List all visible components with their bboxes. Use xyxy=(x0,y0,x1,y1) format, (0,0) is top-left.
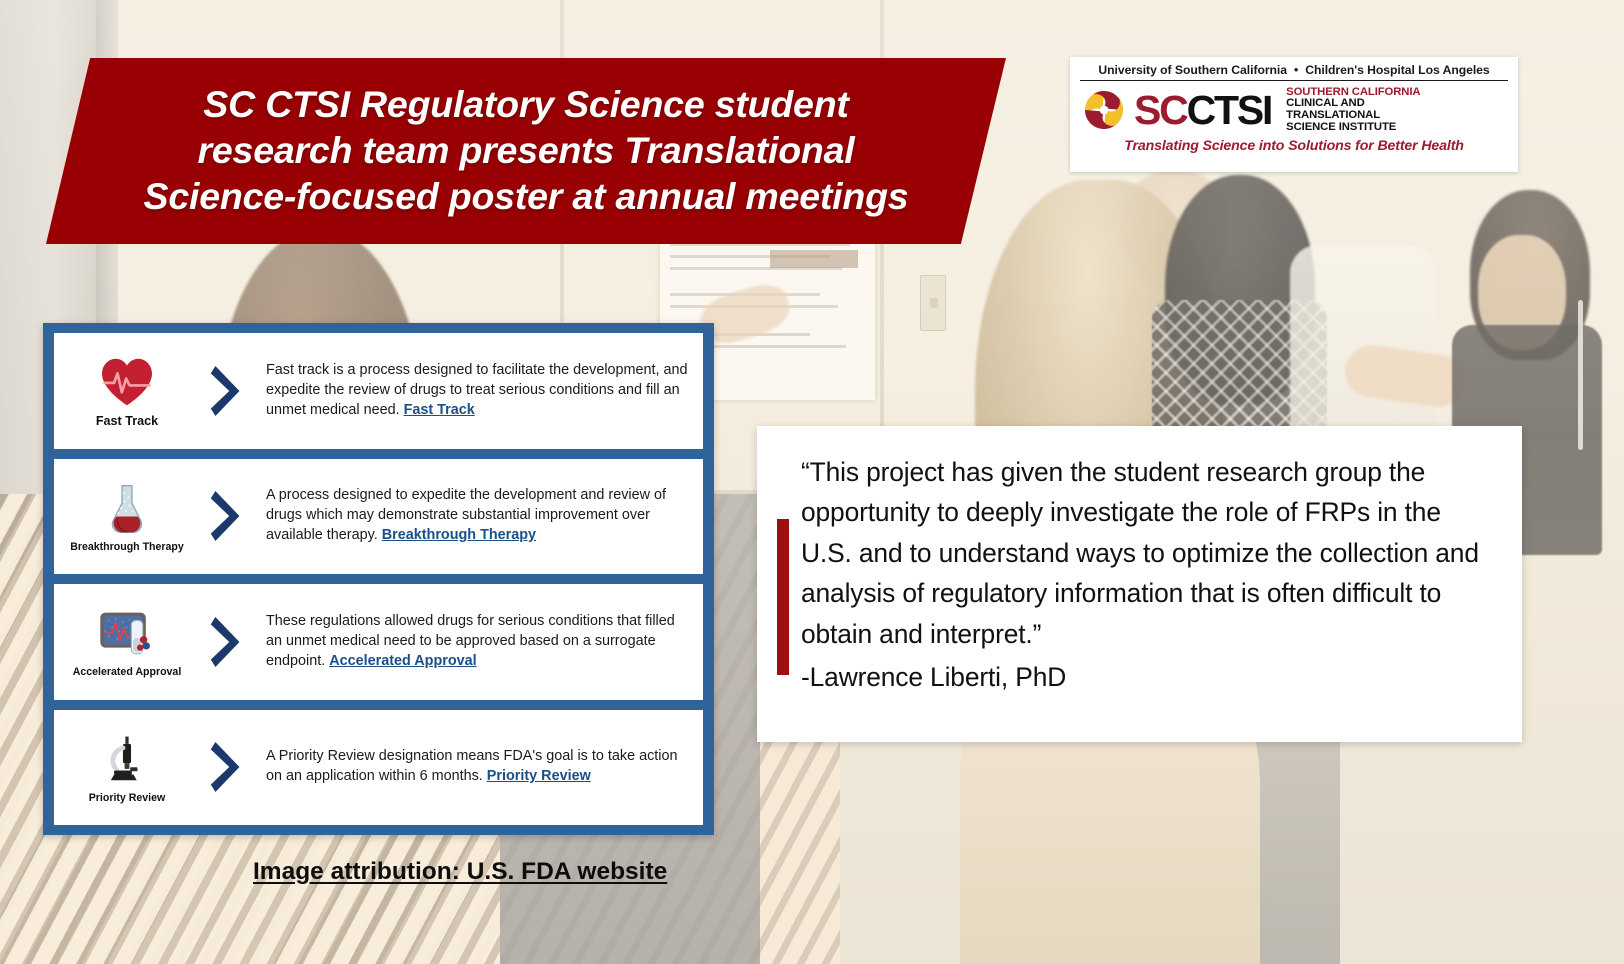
fda-card-caption: Fast Track xyxy=(96,415,158,429)
quote-text: “This project has given the student rese… xyxy=(801,452,1492,654)
fda-card-caption: Accelerated Approval xyxy=(73,667,182,678)
fda-card-body: A Priority Review designation means FDA'… xyxy=(262,747,691,787)
fda-card-link[interactable]: Priority Review xyxy=(487,768,591,784)
chevron-right-icon xyxy=(196,363,256,419)
logo-tagline: Translating Science into Solutions for B… xyxy=(1080,135,1508,154)
page-title: SC CTSI Regulatory Science student resea… xyxy=(76,82,976,219)
logo-partner-usc: University of Southern California xyxy=(1098,63,1287,77)
sc-ctsi-logo: University of Southern California•Childr… xyxy=(1070,57,1518,172)
fda-card-link[interactable]: Breakthrough Therapy xyxy=(382,527,536,543)
title-line-2: research team presents Translational xyxy=(90,128,962,174)
logo-partner-separator: • xyxy=(1287,63,1305,77)
wall-outlet xyxy=(920,275,946,331)
pinwheel-icon xyxy=(1080,86,1128,134)
fda-pathways-panel: Fast Track Fast track is a process desig… xyxy=(43,323,714,835)
fda-card-description: Fast track is a process designed to faci… xyxy=(266,362,688,418)
lanyard-cord xyxy=(1578,300,1583,450)
fda-card-accelerated-approval: Accelerated Approval These regulations a… xyxy=(54,584,703,700)
fda-card-link[interactable]: Fast Track xyxy=(404,402,475,418)
quote-attribution: -Lawrence Liberti, PhD xyxy=(801,654,1492,696)
fda-card-breakthrough-therapy: Breakthrough Therapy A process designed … xyxy=(54,459,703,575)
logo-descriptor: SOUTHERN CALIFORNIA CLINICAL AND TRANSLA… xyxy=(1286,87,1420,134)
logo-wordmark-row: SCCTSI SOUTHERN CALIFORNIA CLINICAL AND … xyxy=(1080,81,1508,135)
logo-wordmark: SCCTSI xyxy=(1134,90,1271,131)
fda-card-caption: Breakthrough Therapy xyxy=(70,542,184,553)
title-line-1: SC CTSI Regulatory Science student xyxy=(90,82,962,128)
logo-descriptor-line-3: TRANSLATIONAL xyxy=(1286,110,1420,122)
fda-card-icon-group: Accelerated Approval xyxy=(64,605,190,678)
poster-graphic: SC CTSI Regulatory Science student resea… xyxy=(0,0,1624,964)
logo-partner-line: University of Southern California•Childr… xyxy=(1080,63,1508,81)
monitor-vial-icon xyxy=(98,605,156,663)
chevron-right-icon xyxy=(196,614,256,670)
quote-panel: “This project has given the student rese… xyxy=(757,426,1522,742)
fda-card-link[interactable]: Accelerated Approval xyxy=(329,653,476,669)
poster-header-block xyxy=(770,250,858,268)
logo-partner-chla: Children's Hospital Los Angeles xyxy=(1305,63,1489,77)
title-banner: SC CTSI Regulatory Science student resea… xyxy=(46,58,1006,244)
fda-card-description: A Priority Review designation means FDA'… xyxy=(266,748,677,784)
fda-card-icon-group: Breakthrough Therapy xyxy=(64,480,190,553)
chevron-right-icon xyxy=(196,739,256,795)
fda-card-body: A process designed to expedite the devel… xyxy=(262,486,691,546)
fda-card-icon-group: Priority Review xyxy=(64,731,190,804)
fda-card-icon-group: Fast Track xyxy=(64,353,190,429)
chevron-right-icon xyxy=(196,488,256,544)
title-line-3: Science-focused poster at annual meeting… xyxy=(90,174,962,220)
logo-wordmark-ctsi: CTSI xyxy=(1187,90,1272,131)
fda-card-priority-review: Priority Review A Priority Review design… xyxy=(54,710,703,826)
fda-card-body: Fast track is a process designed to faci… xyxy=(262,361,691,421)
fda-card-body: These regulations allowed drugs for seri… xyxy=(262,612,691,672)
heart-pulse-icon xyxy=(99,353,155,411)
quote-accent-bar xyxy=(777,519,789,675)
image-attribution: Image attribution: U.S. FDA website xyxy=(253,858,667,886)
microscope-icon xyxy=(106,731,148,789)
logo-descriptor-line-4: SCIENCE INSTITUTE xyxy=(1286,122,1420,134)
fda-card-caption: Priority Review xyxy=(89,793,166,804)
logo-wordmark-sc: SC xyxy=(1134,90,1187,131)
fda-card-fast-track: Fast Track Fast track is a process desig… xyxy=(54,333,703,449)
flask-icon xyxy=(107,480,147,538)
